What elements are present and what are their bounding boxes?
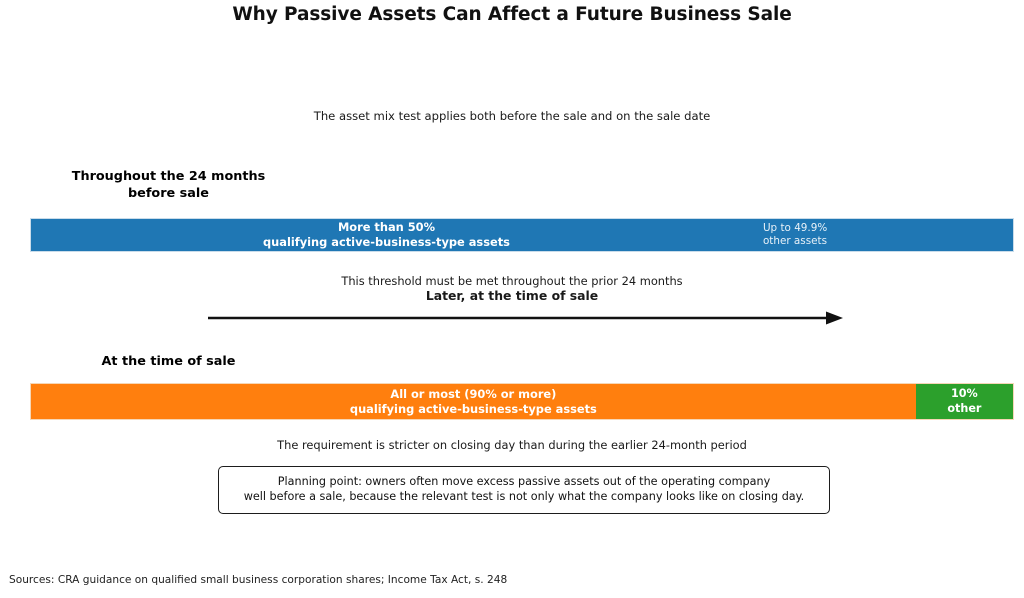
stage-label-before-sale: Throughout the 24 months before sale [36,169,301,203]
note-stricter-requirement: The requirement is stricter on closing d… [0,438,1024,452]
planning-point-callout: Planning point: owners often move excess… [218,466,830,514]
sources-footnote: Sources: CRA guidance on qualified small… [9,574,507,586]
bar-segment-label: More than 50% qualifying active-business… [263,220,510,249]
bar-segment-other-assets-at-sale: 10% other [916,384,1013,419]
asset-mix-bar-at-sale: All or most (90% or more) qualifying act… [30,383,1014,420]
page-title: Why Passive Assets Can Affect a Future B… [0,4,1024,25]
bar-segment-other-assets-before-sale: Up to 49.9% other assets [742,219,1013,251]
infographic-canvas: Why Passive Assets Can Affect a Future B… [0,0,1024,598]
transition-label: Later, at the time of sale [0,288,1024,303]
bar-segment-label: 10% other [947,387,981,416]
stage-label-at-sale: At the time of sale [36,354,301,371]
timeline-arrow-icon [205,306,847,330]
bar-segment-label: All or most (90% or more) qualifying act… [350,387,597,416]
asset-mix-bar-before-sale: More than 50% qualifying active-business… [30,218,1014,252]
bar-segment-active-assets-at-sale: All or most (90% or more) qualifying act… [31,384,916,419]
note-threshold-duration: This threshold must be met throughout th… [0,274,1024,288]
bar-segment-label: Up to 49.9% other assets [763,222,827,249]
page-subtitle: The asset mix test applies both before t… [0,109,1024,123]
bar-segment-active-assets-before-sale: More than 50% qualifying active-business… [31,219,742,251]
